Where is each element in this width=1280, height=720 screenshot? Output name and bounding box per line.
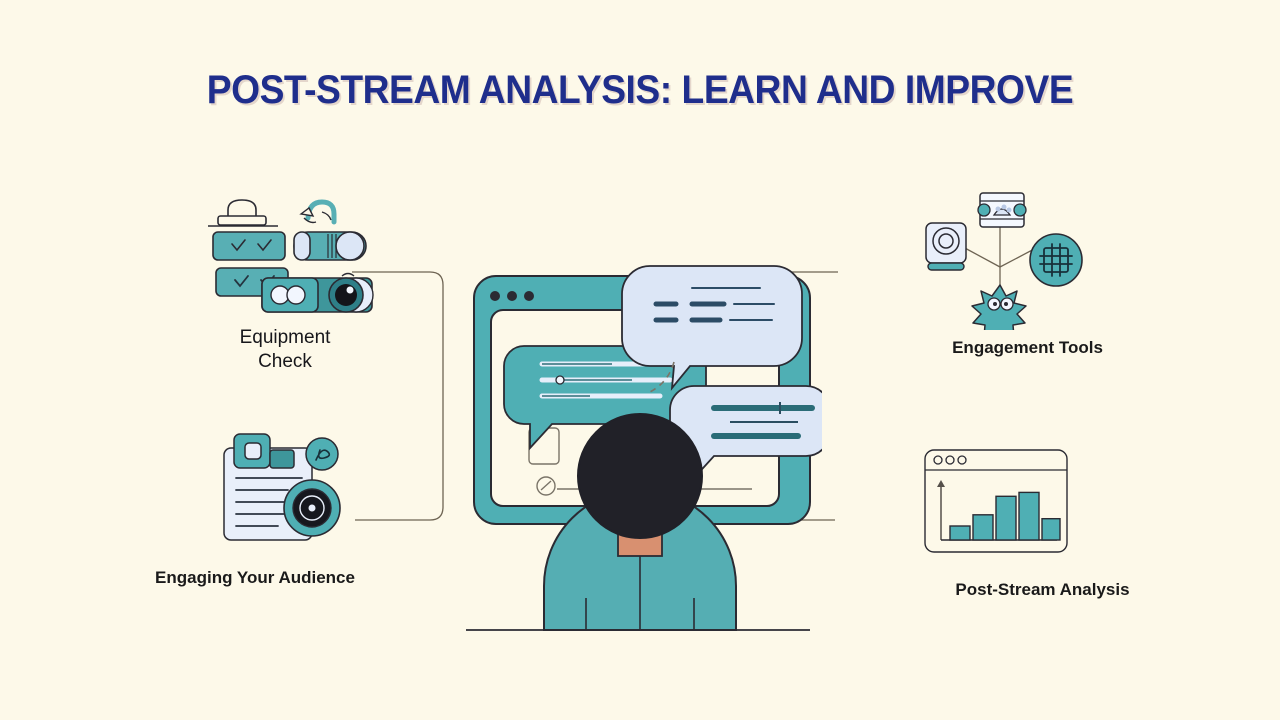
bar [950,526,970,540]
bar-chart-window-illustration [923,448,1069,554]
label-equipment-check: Equipment Check [205,326,365,374]
label-equipment-line1: Equipment [205,326,365,350]
window-dot [524,291,534,301]
streamer-at-monitor-scene [462,258,822,643]
bar [1019,492,1039,540]
window-dot [507,291,517,301]
audience-document-lens-illustration [218,430,358,550]
bar [1042,519,1060,540]
equipment-check-illustration [200,190,380,320]
slide-canvas: POST-STREAM ANALYSIS: LEARN AND IMPROVE [0,0,1280,720]
page-title: POST-STREAM ANALYSIS: LEARN AND IMPROVE [45,68,1235,113]
engagement-tools-illustration [918,185,1088,330]
label-engagement-tools: Engagement Tools [925,338,1130,358]
bar [973,515,993,540]
window-dot [490,291,500,301]
label-engaging-your-audience: Engaging Your Audience [105,568,405,588]
label-post-stream-analysis: Post-Stream Analysis [930,580,1155,600]
bar [996,496,1016,540]
person-head [578,414,702,538]
label-equipment-line2: Check [205,350,365,374]
